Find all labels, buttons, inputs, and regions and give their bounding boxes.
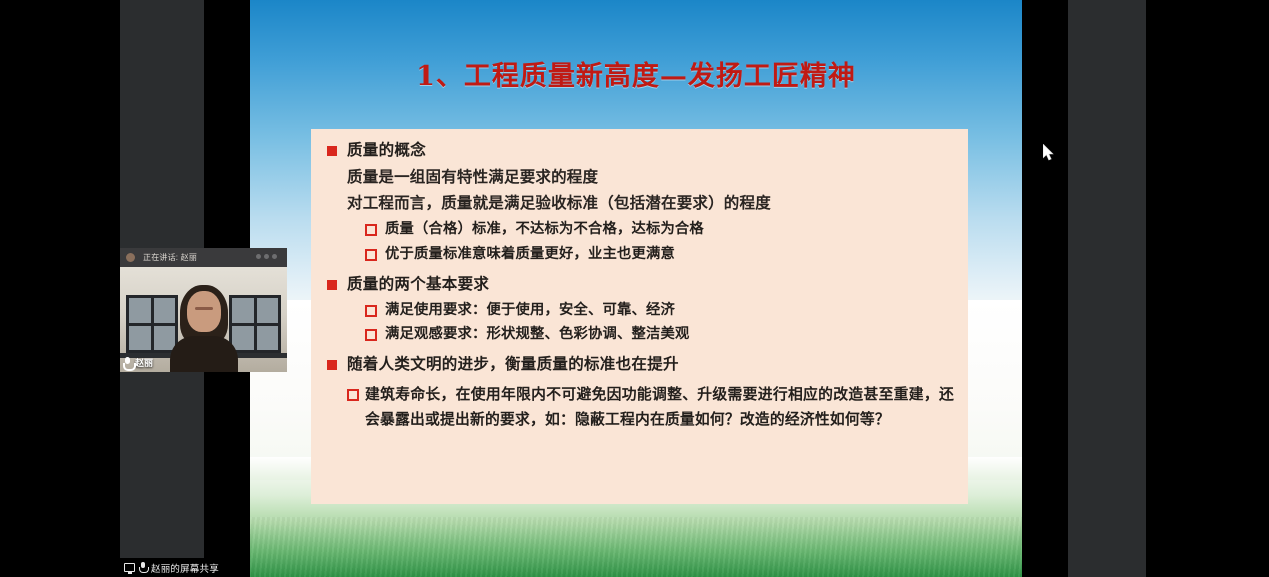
section-plain-line: 质量是一组固有特性满足要求的程度 xyxy=(347,165,954,190)
square-bullet-icon xyxy=(327,146,337,156)
screen-share-icon xyxy=(124,563,135,572)
sub-bullet-label: 满足使用要求 xyxy=(385,302,472,318)
sub-bullet-text: 满足使用要求：便于使用，安全、可靠、经济 xyxy=(385,299,675,321)
microphone-icon xyxy=(123,357,132,369)
section-paragraph-text: 建筑寿命长，在使用年限内不可避免因功能调整、升级需要进行相应的改造甚至重建，还会… xyxy=(365,383,954,434)
section-heading: 随着人类文明的进步，衡量质量的标准也在提升 xyxy=(325,353,954,376)
slide-content-box: 质量的概念 质量是一组固有特性满足要求的程度 对工程而言，质量就是满足验收标准（… xyxy=(311,129,968,504)
participant-head xyxy=(187,291,221,332)
participant-body xyxy=(170,336,238,372)
sub-bullet-detail: 便于使用，安全、可靠、经济 xyxy=(486,302,674,318)
hollow-square-bullet-icon xyxy=(365,329,377,341)
speaker-video-thumbnail[interactable]: 正在讲话: 赵丽 赵丽 xyxy=(120,248,287,372)
screen: 1、工程质量新高度—发扬工匠精神 质量的概念 质量是一组固有特性满足要求的程度 … xyxy=(0,0,1269,577)
sub-bullet-text: 质量（合格）标准，不达标为不合格，达标为合格 xyxy=(385,218,704,240)
sub-bullet-label: 满足观感要求 xyxy=(385,326,472,342)
shared-slide: 1、工程质量新高度—发扬工匠精神 质量的概念 质量是一组固有特性满足要求的程度 … xyxy=(250,0,1022,577)
speaking-label: 正在讲话: 赵丽 xyxy=(143,252,197,263)
screen-share-status-bar: 赵丽的屏幕共享 xyxy=(120,558,225,577)
hollow-square-bullet-icon xyxy=(365,305,377,317)
section-heading-text: 随着人类文明的进步，衡量质量的标准也在提升 xyxy=(347,353,679,376)
video-feed[interactable]: 赵丽 xyxy=(120,267,287,372)
sub-bullet-text: 满足观感要求：形状规整、色彩协调、整洁美观 xyxy=(385,323,689,345)
section-heading: 质量的概念 xyxy=(325,139,954,162)
sub-bullet-item: 质量（合格）标准，不达标为不合格，达标为合格 xyxy=(365,218,954,240)
participant-name-tag: 赵丽 xyxy=(123,356,153,369)
sub-bullet-separator: ： xyxy=(472,326,487,342)
sub-bullet-item: 优于质量标准意味着质量更好，业主也更满意 xyxy=(365,243,954,265)
mouse-pointer-icon xyxy=(1043,144,1055,162)
section-heading: 质量的两个基本要求 xyxy=(325,273,954,296)
microphone-icon xyxy=(139,562,147,573)
app-panel-right xyxy=(1068,0,1146,577)
section-plain-line: 对工程而言，质量就是满足验收标准（包括潜在要求）的程度 xyxy=(347,191,954,216)
window-decoration xyxy=(126,295,178,353)
sub-bullet-detail: 形状规整、色彩协调、整洁美观 xyxy=(486,326,689,342)
more-options-icon[interactable] xyxy=(256,254,277,259)
hollow-square-bullet-icon xyxy=(365,224,377,236)
hollow-square-bullet-icon xyxy=(347,389,359,401)
hollow-square-bullet-icon xyxy=(365,249,377,261)
sub-bullet-text: 优于质量标准意味着质量更好，业主也更满意 xyxy=(385,243,675,265)
window-decoration xyxy=(229,295,281,353)
participant-face xyxy=(195,307,213,310)
sub-bullet-separator: ： xyxy=(472,302,487,318)
section-paragraph: 建筑寿命长，在使用年限内不可避免因功能调整、升级需要进行相应的改造甚至重建，还会… xyxy=(347,383,954,434)
grass-texture xyxy=(250,517,1022,577)
section-heading-text: 质量的两个基本要求 xyxy=(347,273,489,296)
slide-title: 1、工程质量新高度—发扬工匠精神 xyxy=(250,54,1022,93)
sub-bullet-item: 满足观感要求：形状规整、色彩协调、整洁美观 xyxy=(365,323,954,345)
avatar-icon xyxy=(126,253,135,262)
square-bullet-icon xyxy=(327,360,337,370)
video-thumbnail-header: 正在讲话: 赵丽 xyxy=(120,248,287,267)
screen-share-label: 赵丽的屏幕共享 xyxy=(151,561,219,575)
section-heading-text: 质量的概念 xyxy=(347,139,426,162)
sub-bullet-item: 满足使用要求：便于使用，安全、可靠、经济 xyxy=(365,299,954,321)
participant-name: 赵丽 xyxy=(135,356,153,369)
square-bullet-icon xyxy=(327,280,337,290)
